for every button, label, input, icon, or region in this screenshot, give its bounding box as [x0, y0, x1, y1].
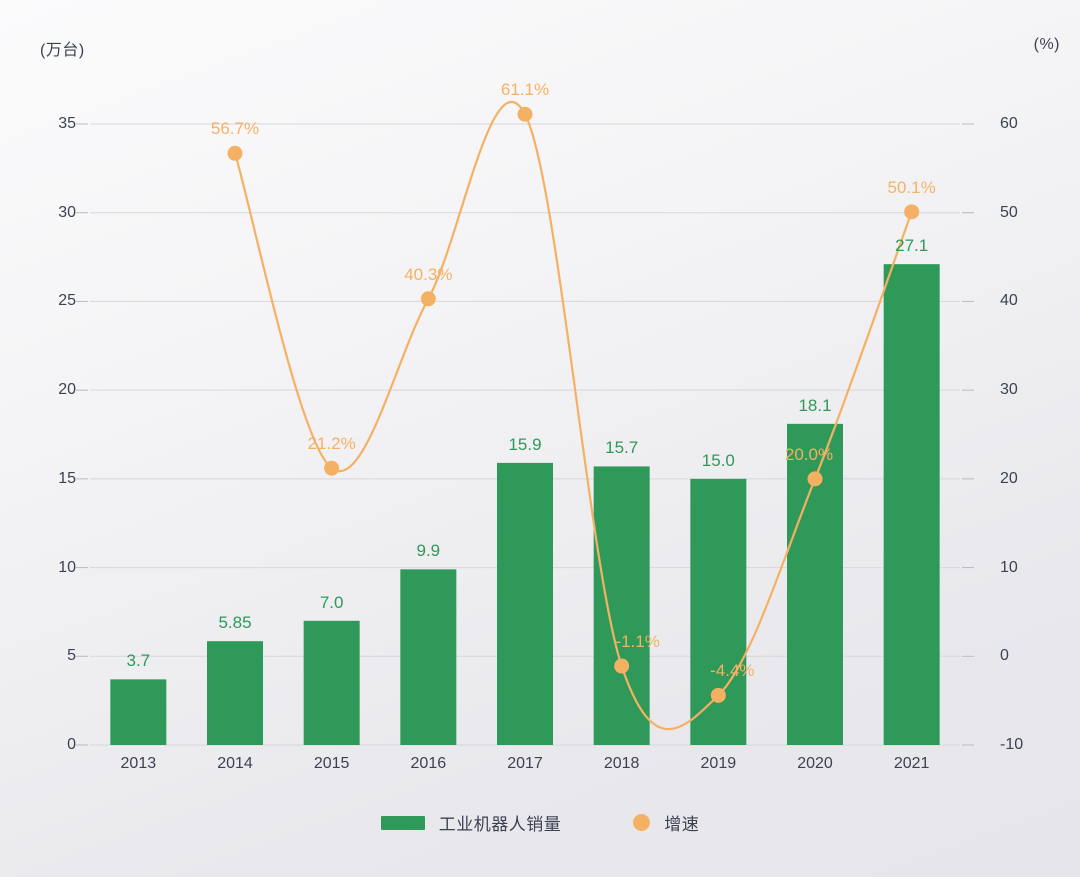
legend-label-sales: 工业机器人销量	[439, 810, 562, 835]
legend-dot-swatch-icon	[633, 814, 650, 831]
legend-item-sales[interactable]: 工业机器人销量	[381, 810, 562, 835]
bar-label-2015: 7.0	[320, 593, 344, 613]
legend-label-growth: 增速	[664, 810, 699, 835]
bar-label-2016: 9.9	[417, 541, 441, 561]
chart-legend: 工业机器人销量 增速	[0, 810, 1080, 835]
line-label-2021: 50.1%	[888, 178, 936, 198]
line-point-2021[interactable]	[904, 204, 919, 219]
bar-2014[interactable]	[207, 641, 263, 745]
bar-label-2018: 15.7	[605, 438, 638, 458]
bar-2019[interactable]	[690, 479, 746, 745]
x-label-2018: 2018	[604, 755, 640, 773]
bar-2017[interactable]	[497, 463, 553, 745]
line-label-2017: 61.1%	[501, 80, 549, 100]
legend-bar-swatch-icon	[381, 816, 425, 830]
line-point-2014[interactable]	[228, 146, 243, 161]
x-label-2020: 2020	[797, 755, 833, 773]
x-label-2021: 2021	[894, 755, 930, 773]
bar-2018[interactable]	[594, 466, 650, 745]
legend-item-growth[interactable]: 增速	[633, 810, 699, 835]
x-label-2016: 2016	[411, 755, 447, 773]
bar-2015[interactable]	[304, 621, 360, 745]
bar-2021[interactable]	[884, 264, 940, 745]
x-label-2017: 2017	[507, 755, 543, 773]
line-point-2016[interactable]	[421, 291, 436, 306]
line-label-2018: -1.1%	[615, 632, 659, 652]
line-point-2017[interactable]	[518, 107, 533, 122]
bar-2016[interactable]	[400, 569, 456, 745]
bar-label-2013: 3.7	[127, 651, 151, 671]
line-label-2020: 20.0%	[785, 445, 833, 465]
line-point-2020[interactable]	[808, 471, 823, 486]
bar-series	[110, 264, 939, 745]
line-label-2014: 56.7%	[211, 119, 259, 139]
bar-label-2017: 15.9	[508, 435, 541, 455]
bar-2013[interactable]	[110, 679, 166, 745]
line-point-2018[interactable]	[614, 659, 629, 674]
bar-label-2014: 5.85	[218, 613, 251, 633]
x-label-2013: 2013	[121, 755, 157, 773]
line-point-2019[interactable]	[711, 688, 726, 703]
bar-label-2020: 18.1	[798, 396, 831, 416]
chart-container: (万台) (%) 05101520253035 -100102030405060…	[0, 0, 1080, 877]
line-label-2016: 40.3%	[404, 265, 452, 285]
line-point-2015[interactable]	[324, 461, 339, 476]
x-label-2014: 2014	[217, 755, 253, 773]
x-label-2015: 2015	[314, 755, 350, 773]
line-label-2019: -4.4%	[710, 661, 754, 681]
bar-label-2019: 15.0	[702, 451, 735, 471]
x-label-2019: 2019	[701, 755, 737, 773]
line-label-2015: 21.2%	[308, 434, 356, 454]
bar-label-2021: 27.1	[895, 236, 928, 256]
